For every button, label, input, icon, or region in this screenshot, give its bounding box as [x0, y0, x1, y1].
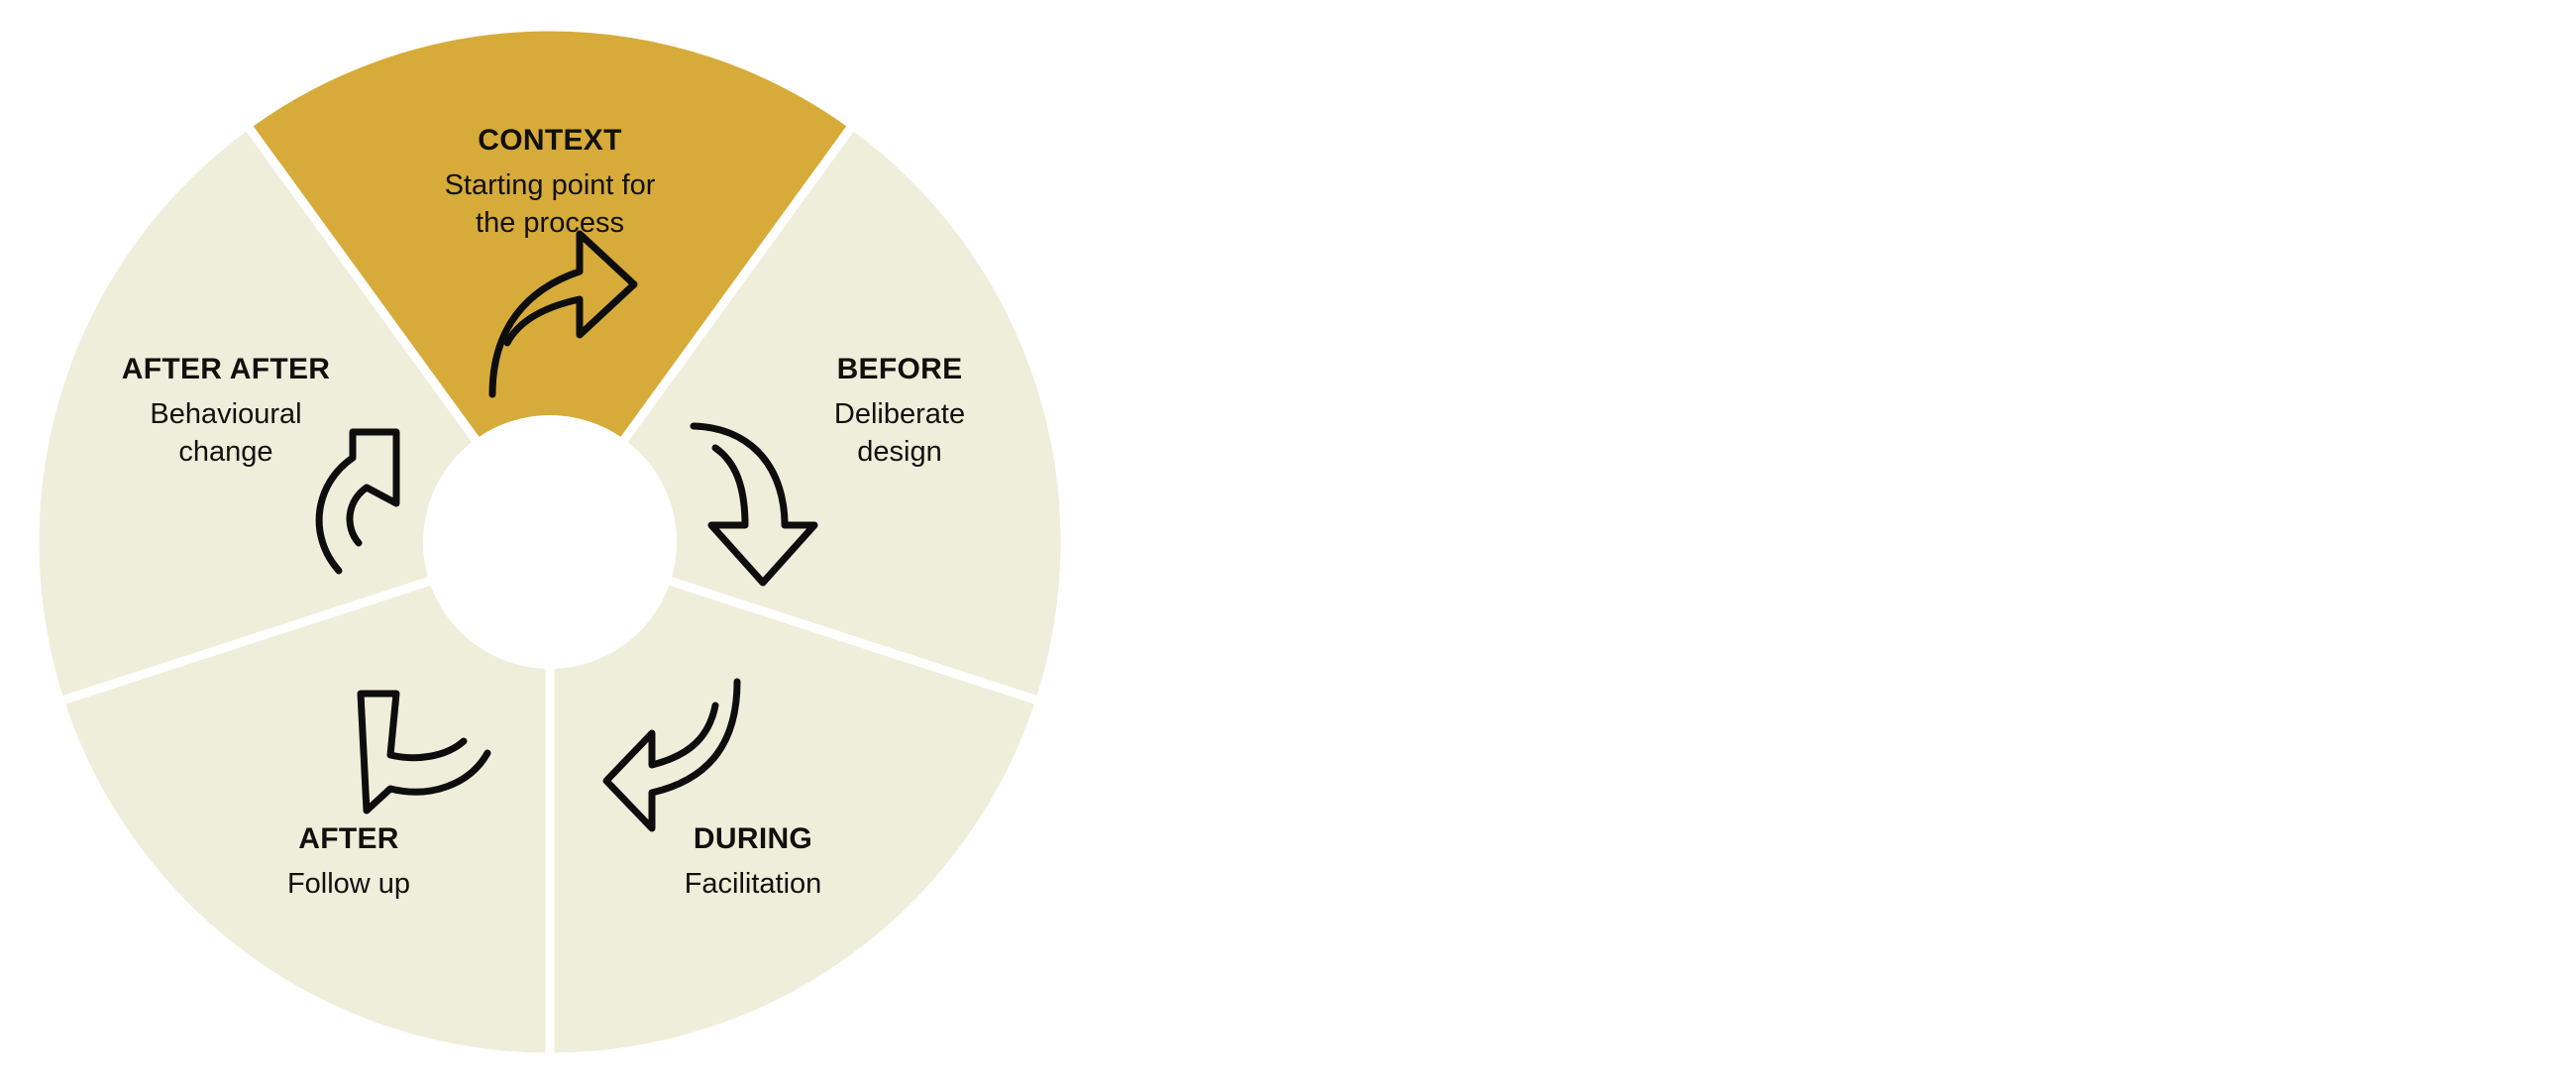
- segment-context-title: CONTEXT: [478, 124, 621, 157]
- segment-after-after-subtitle-line1: Behavioural: [150, 398, 301, 430]
- segment-after-title: AFTER: [298, 822, 399, 855]
- segment-before-subtitle-line2: design: [857, 436, 941, 468]
- segment-after-subtitle-line1: Follow up: [287, 868, 410, 900]
- segment-after-after-subtitle-line2: change: [178, 436, 272, 468]
- segment-before-title: BEFORE: [837, 353, 963, 385]
- process-wheel-diagram: CONTEXT Starting point for the process B…: [0, 0, 2576, 1084]
- segment-context-subtitle-line2: the process: [476, 207, 624, 239]
- wheel-canvas: CONTEXT Starting point for the process B…: [0, 0, 2576, 1084]
- segment-before-subtitle-line1: Deliberate: [834, 398, 965, 430]
- center-hub: [423, 415, 677, 669]
- segment-during-subtitle-line1: Facilitation: [685, 868, 822, 900]
- segment-after-after-title: AFTER AFTER: [122, 353, 331, 385]
- segment-during-title: DURING: [694, 822, 812, 855]
- segment-context-subtitle-line1: Starting point for: [445, 169, 656, 201]
